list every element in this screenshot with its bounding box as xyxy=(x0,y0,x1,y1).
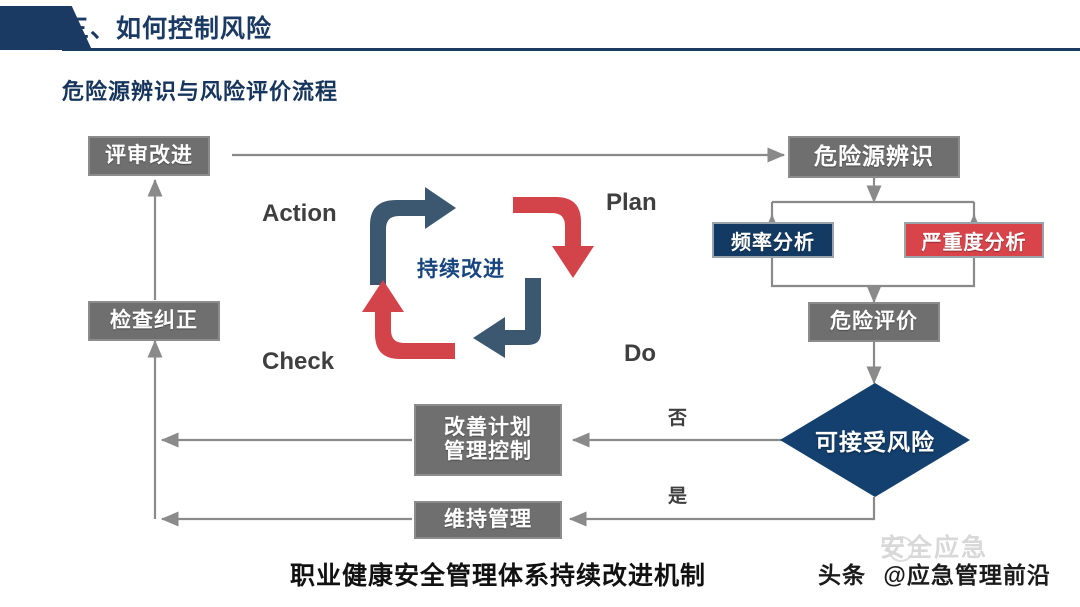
page-title: 三、如何控制风险 xyxy=(64,9,272,45)
box-improve-plan-line2: 管理控制 xyxy=(444,440,532,464)
pdca-arrow-do xyxy=(473,278,541,358)
box-frequency-analysis[interactable]: 频率分析 xyxy=(712,222,834,258)
pdca-center-label: 持续改进 xyxy=(417,253,505,283)
pdca-label-action: Action xyxy=(262,200,337,228)
watermark-platform: 头条 xyxy=(818,562,866,588)
header-divider xyxy=(62,48,1080,51)
branch-label-no: 否 xyxy=(668,403,687,430)
pdca-arrow-plan xyxy=(513,197,594,278)
box-review-improve[interactable]: 评审改进 xyxy=(88,136,210,176)
box-severity-analysis[interactable]: 严重度分析 xyxy=(904,222,1044,258)
watermark: 头条 @应急管理前沿 xyxy=(818,556,1051,590)
pdca-label-plan: Plan xyxy=(606,189,657,217)
box-risk-evaluation[interactable]: 危险评价 xyxy=(808,302,940,342)
box-improve-plan-line1: 改善计划 xyxy=(444,416,532,440)
diagram-caption: 职业健康安全管理体系持续改进机制 xyxy=(290,556,706,592)
pdca-label-check: Check xyxy=(262,348,334,376)
box-hazard-identify[interactable]: 危险源辨识 xyxy=(788,136,960,178)
decision-acceptable-risk[interactable]: 可接受风险 xyxy=(780,383,970,497)
box-improve-plan[interactable]: 改善计划 管理控制 xyxy=(414,404,562,476)
branch-label-yes: 是 xyxy=(668,481,687,508)
section-subtitle: 危险源辨识与风险评价流程 xyxy=(62,74,338,106)
pdca-arrow-check xyxy=(362,280,455,359)
watermark-account: @应急管理前沿 xyxy=(883,562,1050,588)
box-maintain-manage[interactable]: 维持管理 xyxy=(414,501,562,539)
pdca-label-do: Do xyxy=(624,340,656,368)
slide-canvas: 三、如何控制风险 危险源辨识与风险评价流程 xyxy=(0,0,1080,607)
box-check-correct[interactable]: 检查纠正 xyxy=(88,301,220,341)
decision-label: 可接受风险 xyxy=(780,383,970,497)
